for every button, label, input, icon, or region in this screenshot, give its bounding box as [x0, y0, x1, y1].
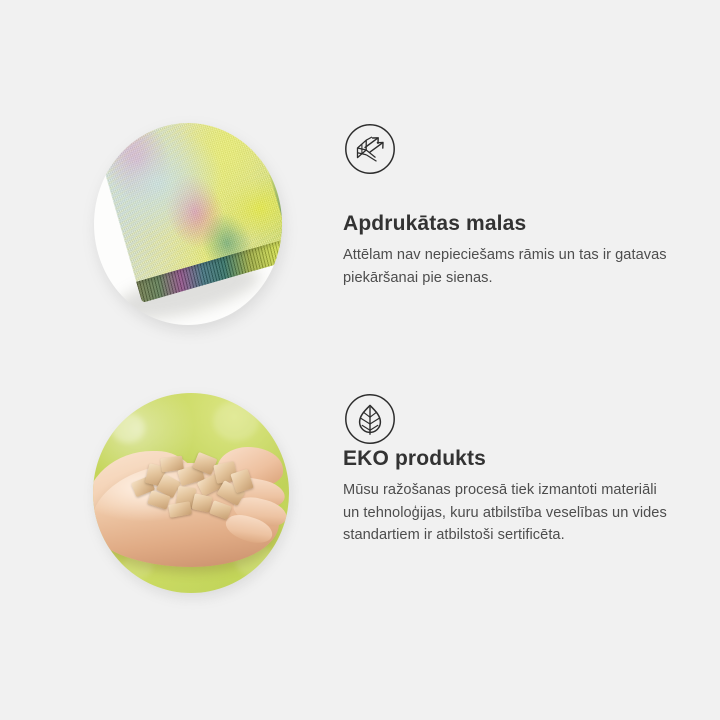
feature-description: Mūsu ražošanas procesā tiek izmantoti ma… [343, 479, 673, 547]
hands-holding-wood-chips-photo [93, 393, 289, 593]
bokeh-highlight [111, 413, 145, 443]
feature-title: EKO produkts [343, 446, 693, 472]
feature-text-eko-product: EKO produkts Mūsu ražošanas procesā tiek… [343, 446, 693, 547]
feature-text-printed-edges: Apdrukātas malas Attēlam nav nepieciešam… [343, 211, 693, 289]
feature-description: Attēlam nav nepieciešams rāmis un tas ir… [343, 244, 673, 289]
canvas-wrap-edges-icon [344, 123, 396, 175]
leaf-icon [344, 393, 396, 445]
feature-title: Apdrukātas malas [343, 211, 693, 237]
hands [93, 445, 289, 575]
printed-canvas-corner-photo [94, 123, 282, 325]
wood-chip [168, 501, 192, 518]
feature-info-panel: Apdrukātas malas Attēlam nav nepieciešam… [0, 0, 720, 720]
feature-block-printed-edges: Apdrukātas malas Attēlam nav nepieciešam… [0, 123, 720, 333]
canvas-artwork [96, 123, 282, 325]
feature-block-eko-product: EKO produkts Mūsu ražošanas procesā tiek… [0, 393, 720, 603]
bokeh-highlight [213, 401, 259, 441]
wood-chips [129, 453, 253, 527]
wood-chip [209, 500, 232, 520]
